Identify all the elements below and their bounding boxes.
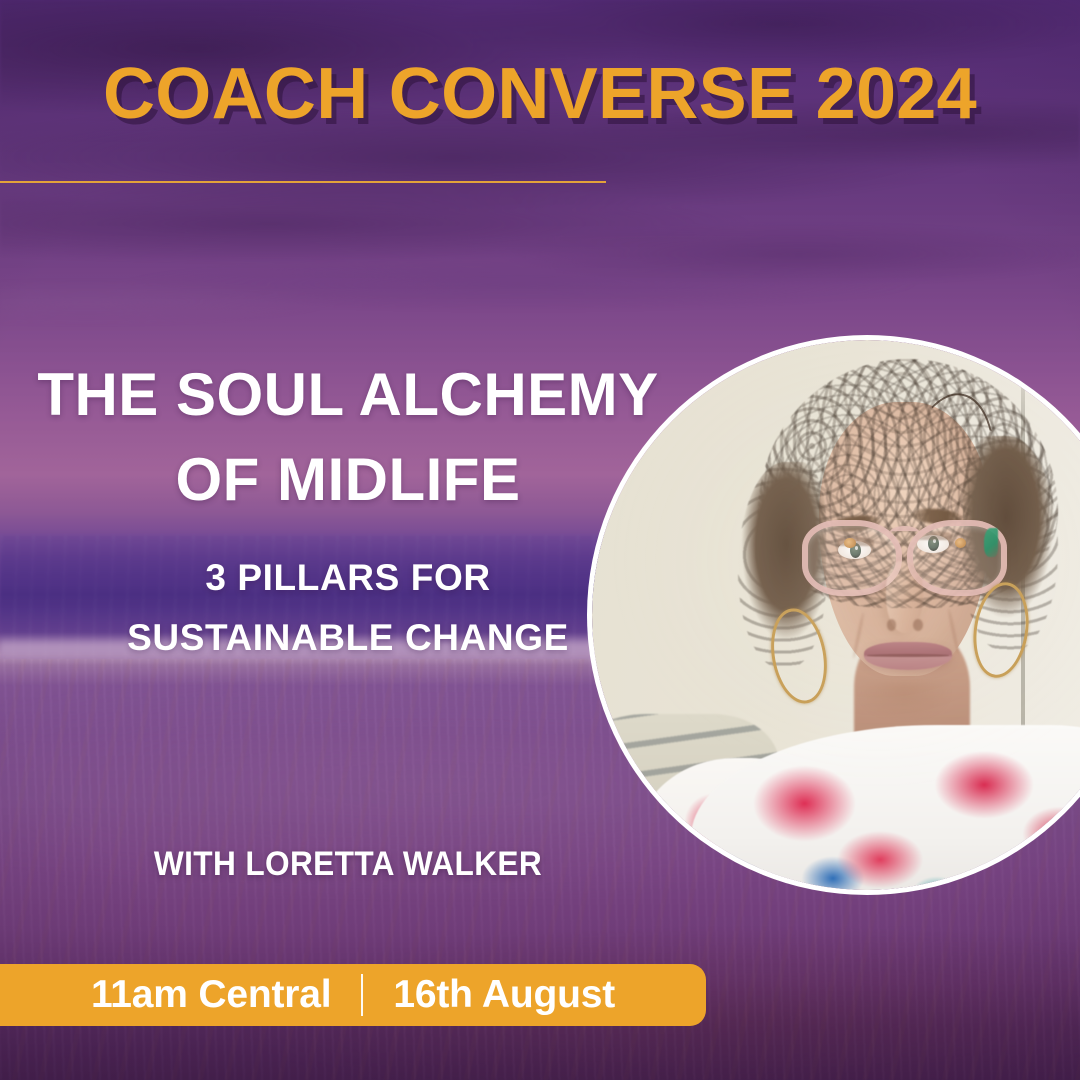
eyeglasses-bridge: [890, 526, 919, 538]
schedule-bar-content: 11am Central 16th August: [71, 973, 615, 1017]
portrait-nostril-left: [887, 619, 897, 631]
portrait-nostril-right: [913, 619, 923, 631]
schedule-bar: 11am Central 16th August: [0, 964, 706, 1026]
event-poster: COACH CONVERSE 2024 THE SOUL ALCHEMY OF …: [0, 0, 1080, 1080]
portrait-mouth-line: [867, 654, 949, 657]
session-title: THE SOUL ALCHEMY OF MIDLIFE: [18, 352, 678, 522]
portrait-chin-shadow: [860, 681, 949, 720]
session-subtitle-line-2: SUSTAINABLE CHANGE: [18, 608, 678, 668]
schedule-separator: [361, 974, 363, 1016]
session-title-line-1: THE SOUL ALCHEMY: [18, 352, 678, 437]
portrait-mouth: [864, 642, 953, 670]
session-title-line-2: OF MIDLIFE: [18, 437, 678, 522]
event-title: COACH CONVERSE 2024: [0, 58, 1080, 130]
schedule-time: 11am Central: [91, 973, 331, 1017]
eyeglasses-green-accent: [984, 528, 997, 556]
portrait-nose: [886, 561, 924, 634]
schedule-date: 16th August: [393, 973, 615, 1017]
header-divider: [0, 181, 606, 183]
speaker-credit: WITH LORETTA WALKER: [41, 845, 655, 884]
session-subtitle-line-1: 3 PILLARS FOR: [18, 548, 678, 608]
session-subtitle: 3 PILLARS FOR SUSTAINABLE CHANGE: [18, 548, 678, 668]
eyeglasses-hinge-left: [844, 538, 855, 548]
